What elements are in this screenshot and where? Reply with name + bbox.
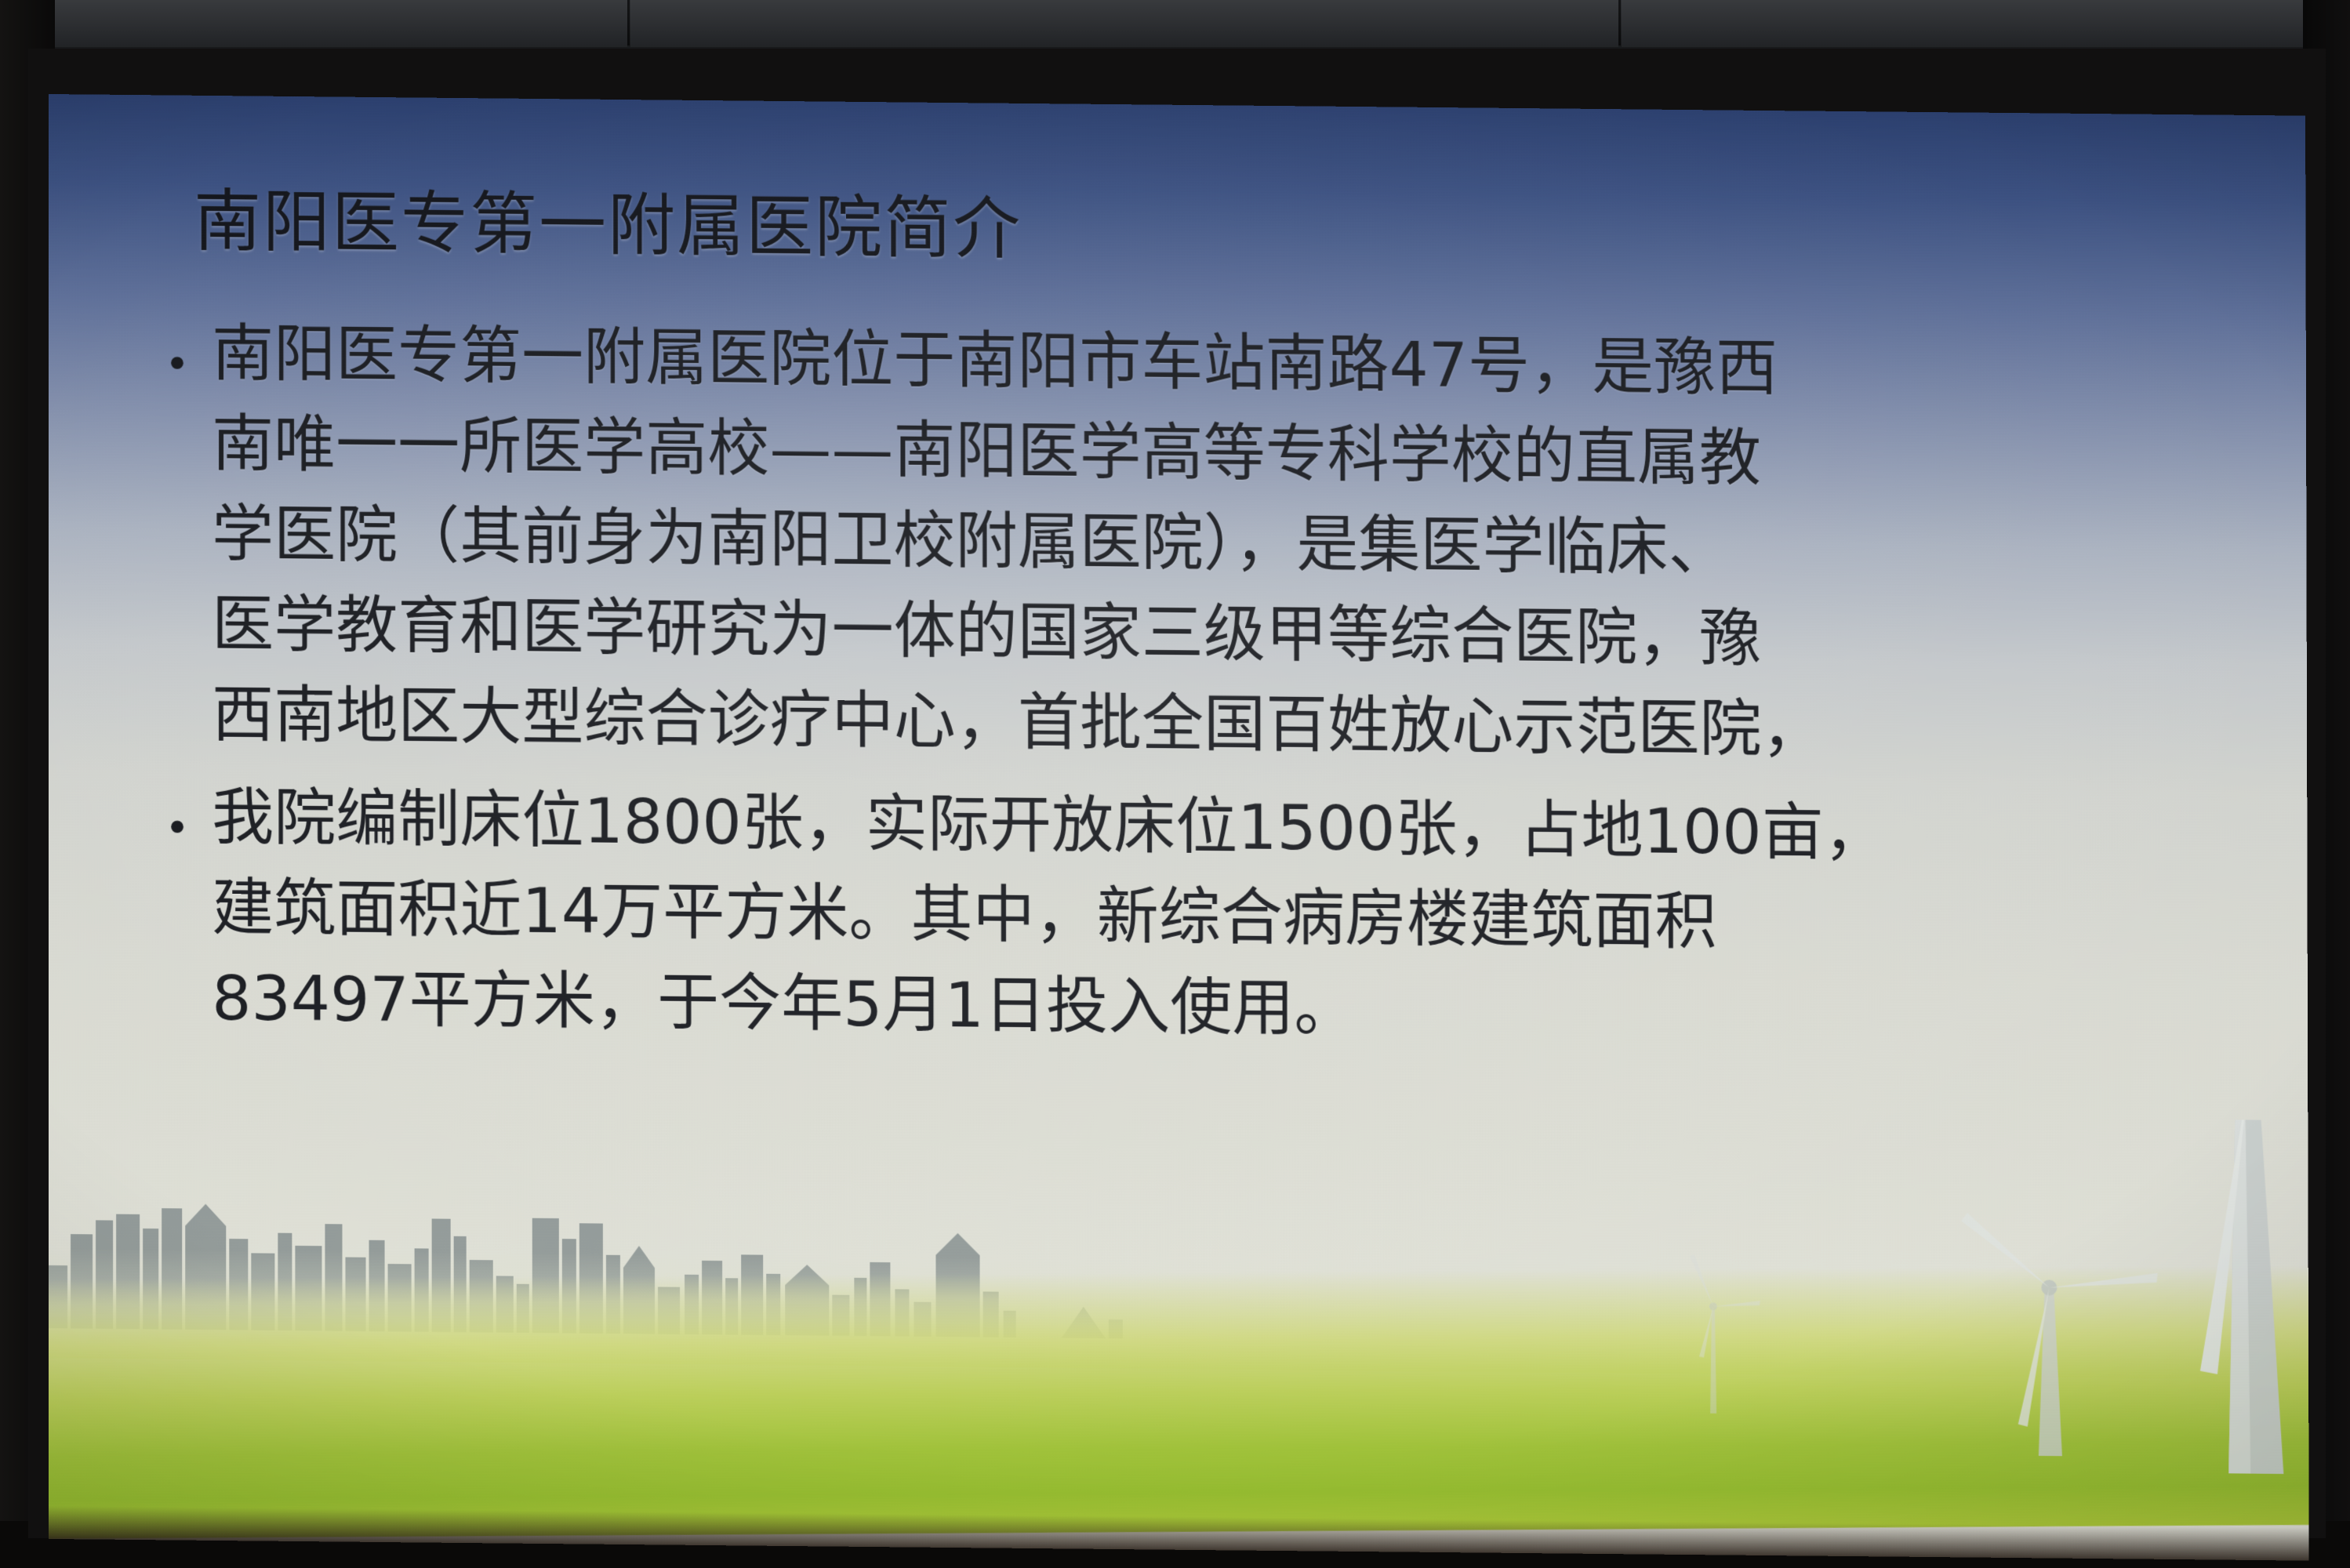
bullet-line: 西南地区大型综合诊疗中心，首批全国百姓放心示范医院， bbox=[212, 670, 2236, 779]
ceiling-seam-2 bbox=[1618, 0, 1621, 45]
ceiling-panel-mid bbox=[630, 0, 1618, 47]
bullet-line: 83497平方米，于今年5月1日投入使用。 bbox=[212, 953, 2237, 1063]
ceiling-seam-1 bbox=[627, 0, 630, 45]
bullet-marker-icon: • bbox=[165, 308, 212, 386]
bullet-overview-body: 南阳医专第一附属医院位于南阳市车站南路47号，是豫西 南唯一一所医学高校——南阳… bbox=[212, 309, 2236, 779]
ceiling-panel-right bbox=[1622, 0, 2350, 47]
slide-title: 南阳医专第一附属医院简介 bbox=[194, 187, 1022, 265]
projected-slide[interactable]: 南阳医专第一附属医院简介 • 南阳医专第一附属医院位于南阳市车站南路47号，是豫… bbox=[49, 94, 2309, 1561]
ceiling-panel-left bbox=[0, 0, 627, 47]
projection-room: 南阳医专第一附属医院简介 • 南阳医专第一附属医院位于南阳市车站南路47号，是豫… bbox=[0, 0, 2350, 1568]
bullet-hospital-overview: • 南阳医专第一附属医院位于南阳市车站南路47号，是豫西 南唯一一所医学高校——… bbox=[165, 308, 2236, 779]
bullet-list: • 南阳医专第一附属医院位于南阳市车站南路47号，是豫西 南唯一一所医学高校——… bbox=[165, 308, 2237, 1076]
bullet-hospital-capacity: • 我院编制床位1800张，实际开放床位1500张，占地100亩， 建筑面积近1… bbox=[165, 772, 2237, 1063]
slide-text-content: 南阳医专第一附属医院简介 • 南阳医专第一附属医院位于南阳市车站南路47号，是豫… bbox=[49, 94, 2309, 1561]
bullet-marker-icon: • bbox=[165, 772, 212, 850]
bullet-capacity-body: 我院编制床位1800张，实际开放床位1500张，占地100亩， 建筑面积近14万… bbox=[212, 773, 2237, 1063]
